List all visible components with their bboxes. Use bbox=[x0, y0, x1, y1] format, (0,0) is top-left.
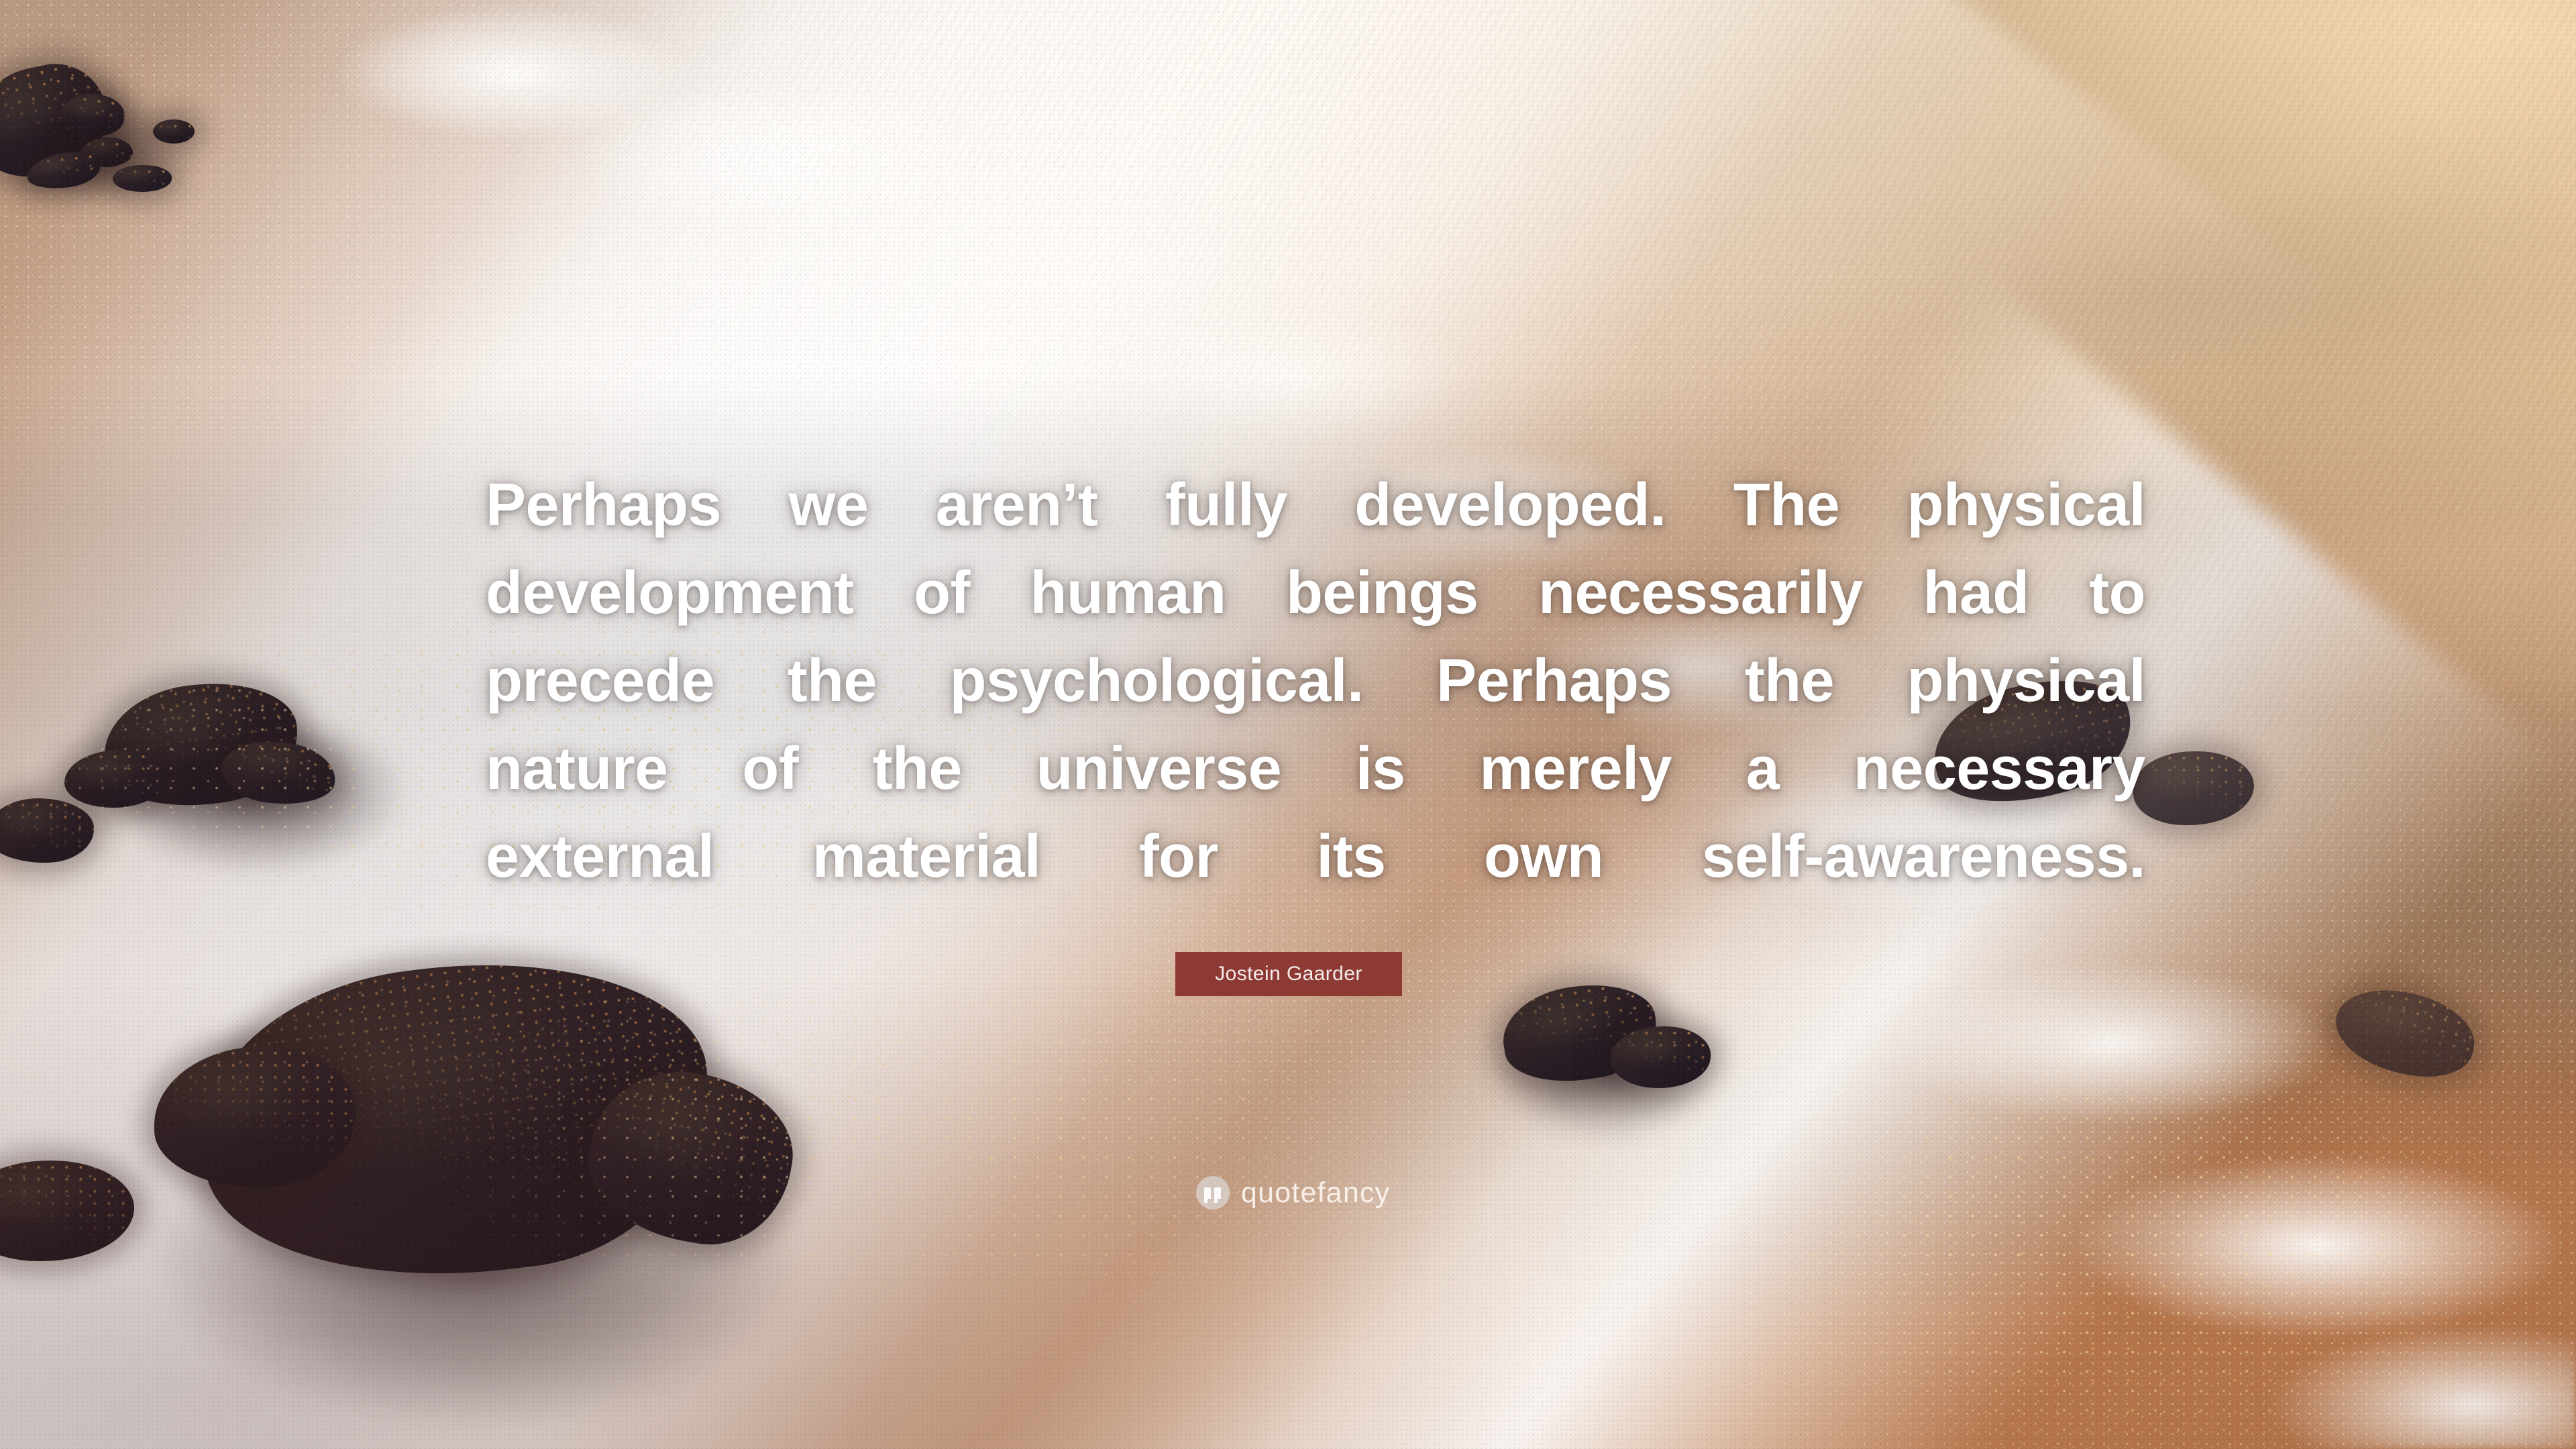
quotefancy-watermark[interactable]: quotefancy bbox=[1196, 1176, 1390, 1210]
quote-word: had bbox=[1923, 549, 2029, 637]
quote-word: psychological. bbox=[950, 637, 1364, 725]
quote-word: Perhaps bbox=[486, 462, 721, 549]
quote-word: material bbox=[812, 813, 1040, 901]
quote-word: its bbox=[1316, 813, 1385, 901]
quote-word: the bbox=[873, 725, 962, 813]
quote-word: development bbox=[486, 549, 854, 637]
quote-word: beings bbox=[1286, 549, 1478, 637]
quote-word: Perhaps bbox=[1436, 637, 1672, 725]
quote-word: to bbox=[2089, 549, 2145, 637]
quote-line-4: nature of the universe is merely a neces… bbox=[486, 725, 2145, 813]
quote-word: necessary bbox=[1854, 725, 2145, 813]
quote-word: precede bbox=[486, 637, 714, 725]
quote-line-2: development of human beings necessarily … bbox=[486, 549, 2145, 637]
quote-line-5: external material for its own self-aware… bbox=[486, 813, 2145, 901]
quote-word: aren’t bbox=[936, 462, 1097, 549]
quote-word: human bbox=[1030, 549, 1226, 637]
double-quote-icon bbox=[1196, 1176, 1230, 1210]
author-name: Jostein Gaarder bbox=[1215, 963, 1362, 985]
quote-word: is bbox=[1356, 725, 1405, 813]
brand-name: quotefancy bbox=[1241, 1177, 1390, 1210]
quote-word: a bbox=[1746, 725, 1779, 813]
quote-line-3: precede the psychological. Perhaps the p… bbox=[486, 637, 2145, 725]
quote-word: the bbox=[1745, 637, 1834, 725]
overlay-content: Perhaps we aren’t fully developed. The p… bbox=[0, 0, 2576, 1449]
quote-word: physical bbox=[1907, 462, 2145, 549]
quote-word: necessarily bbox=[1538, 549, 1863, 637]
quote-word: own bbox=[1484, 813, 1603, 901]
quote-word: we bbox=[788, 462, 868, 549]
author-attribution-badge[interactable]: Jostein Gaarder bbox=[1175, 952, 1402, 996]
quote-word: nature bbox=[486, 725, 667, 813]
quote-word: the bbox=[788, 637, 877, 725]
quote-word: for bbox=[1139, 813, 1218, 901]
quote-word: self-awareness. bbox=[1702, 813, 2145, 901]
quote-word: The bbox=[1733, 462, 1839, 549]
quote-word: developed. bbox=[1354, 462, 1666, 549]
quote-word: fully bbox=[1165, 462, 1287, 549]
quote-word: universe bbox=[1036, 725, 1281, 813]
quote-word: physical bbox=[1907, 637, 2145, 725]
quote-word: of bbox=[914, 549, 970, 637]
quote-word: external bbox=[486, 813, 714, 901]
quote-wallpaper: Perhaps we aren’t fully developed. The p… bbox=[0, 0, 2576, 1449]
quote-line-1: Perhaps we aren’t fully developed. The p… bbox=[486, 462, 2145, 549]
quote-word: of bbox=[742, 725, 798, 813]
quote-text: Perhaps we aren’t fully developed. The p… bbox=[486, 462, 2145, 901]
quote-word: merely bbox=[1479, 725, 1672, 813]
